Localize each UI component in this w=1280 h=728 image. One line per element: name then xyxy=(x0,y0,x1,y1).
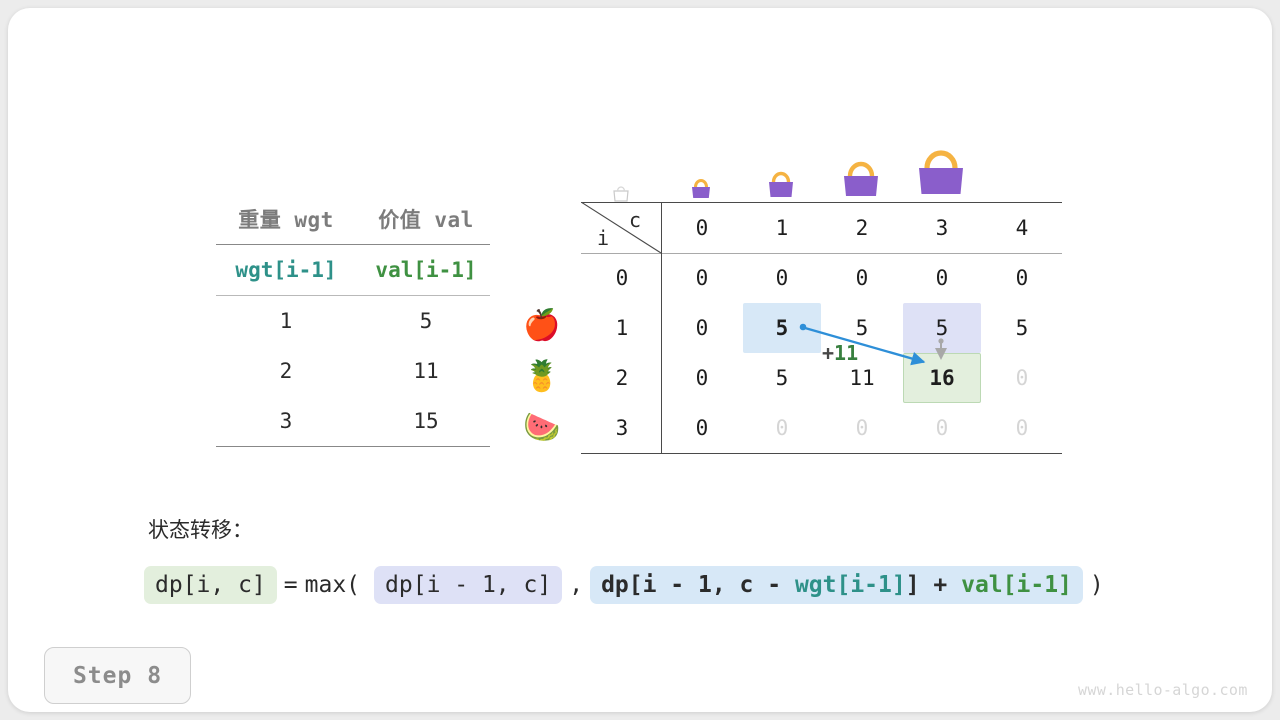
formula-equals: = xyxy=(277,572,305,598)
fruit-icon-column: 🍎 🍍 🍉 xyxy=(514,300,570,453)
item-table-header-wgt: 重量 wgt xyxy=(216,204,356,234)
dp-row-header-0: 0 xyxy=(582,253,662,303)
item-table-body: 1 5 2 11 3 15 xyxy=(216,296,496,446)
formula-arg2: dp[i - 1, c - wgt[i-1]] + val[i-1] xyxy=(590,566,1083,604)
dp-table: c i 0 1 2 3 4 0 1 2 3 0 0 xyxy=(581,202,1062,454)
item-row-1: 1 5 xyxy=(216,296,496,346)
formula-arg2-mid: ] + xyxy=(906,572,961,598)
dp-col-header-2: 2 xyxy=(822,203,902,253)
bag-l-icon xyxy=(821,158,901,202)
item-1-val: 5 xyxy=(356,309,496,333)
main-card: 重量 wgt 价值 val wgt[i-1] val[i-1] 1 5 2 11 xyxy=(8,8,1272,712)
item-table-sub-val: val[i-1] xyxy=(356,258,496,282)
apple-icon: 🍎 xyxy=(514,300,570,351)
dp-cell-0-1: 0 xyxy=(742,253,822,303)
dp-row-header-3: 3 xyxy=(582,403,662,453)
bag-icon-row xyxy=(581,134,1062,202)
item-table-header-val: 价值 val xyxy=(356,204,496,234)
formula-arg2-val: val[i-1] xyxy=(961,572,1072,598)
dp-cell-3-3: 0 xyxy=(902,403,982,453)
dp-cell-1-4: 5 xyxy=(982,303,1062,353)
item-table-rule-bottom xyxy=(216,446,490,447)
dp-cell-2-1: 5 xyxy=(742,353,822,403)
formula-arg2-prefix: dp[i - 1, c - xyxy=(601,572,795,598)
item-row-2: 2 11 xyxy=(216,346,496,396)
dp-row-header-1: 1 xyxy=(582,303,662,353)
item-2-val: 11 xyxy=(356,359,496,383)
step-badge: Step 8 xyxy=(44,647,191,704)
dp-cell-3-2: 0 xyxy=(822,403,902,453)
formula-max-open: max( xyxy=(305,572,360,598)
dp-cell-0-4: 0 xyxy=(982,253,1062,303)
dp-cell-3-0: 0 xyxy=(662,403,742,453)
item-row-3: 3 15 xyxy=(216,396,496,446)
dp-row-header-2: 2 xyxy=(582,353,662,403)
bag-s-icon xyxy=(661,174,741,202)
item-3-val: 15 xyxy=(356,409,496,433)
dp-cell-1-0: 0 xyxy=(662,303,742,353)
watermark: www.hello-algo.com xyxy=(1078,681,1248,699)
bag-m-icon xyxy=(741,168,821,202)
gain-plus-sign: + xyxy=(822,341,834,365)
item-table-header-row: 重量 wgt 价值 val xyxy=(216,194,496,244)
dp-cell-3-4: 0 xyxy=(982,403,1062,453)
item-table-subheader-row: wgt[i-1] val[i-1] xyxy=(216,245,496,295)
dp-cell-1-3: 5 xyxy=(902,303,982,353)
gain-value: 11 xyxy=(834,341,858,365)
item-table: 重量 wgt 价值 val wgt[i-1] val[i-1] 1 5 2 11 xyxy=(216,194,496,447)
page-background: 重量 wgt 价值 val wgt[i-1] val[i-1] 1 5 2 11 xyxy=(0,0,1280,720)
formula-arg1: dp[i - 1, c] xyxy=(374,566,562,604)
dp-col-header-4: 4 xyxy=(982,203,1062,253)
gain-annotation: +11 xyxy=(822,341,858,365)
dp-cell-2-3: 16 xyxy=(902,353,982,403)
dp-cell-0-3: 0 xyxy=(902,253,982,303)
item-table-sub-wgt: wgt[i-1] xyxy=(216,258,356,282)
dp-col-header-1: 1 xyxy=(742,203,822,253)
item-3-wgt: 3 xyxy=(216,409,356,433)
item-2-wgt: 2 xyxy=(216,359,356,383)
dp-cell-2-4: 0 xyxy=(982,353,1062,403)
dp-cell-2-0: 0 xyxy=(662,353,742,403)
state-transition-formula: dp[i, c] = max( dp[i - 1, c] , dp[i - 1,… xyxy=(144,566,1111,604)
dp-cell-3-1: 0 xyxy=(742,403,822,453)
dp-col-header-0: 0 xyxy=(662,203,742,253)
item-1-wgt: 1 xyxy=(216,309,356,333)
dp-col-header-3: 3 xyxy=(902,203,982,253)
formula-close-paren: ) xyxy=(1083,572,1111,598)
dp-cell-0-0: 0 xyxy=(662,253,742,303)
pineapple-icon: 🍍 xyxy=(514,351,570,402)
dp-grid: 0 1 2 3 4 0 1 2 3 0 0 0 0 0 0 5 5 xyxy=(581,202,1062,454)
formula-comma: , xyxy=(562,572,590,598)
bag-xs-outline-icon xyxy=(581,182,661,202)
formula-arg2-wgt: wgt[i-1] xyxy=(795,572,906,598)
dp-cell-0-2: 0 xyxy=(822,253,902,303)
formula-target: dp[i, c] xyxy=(144,566,277,604)
watermelon-icon: 🍉 xyxy=(514,402,570,453)
dp-cell-1-1: 5 xyxy=(742,303,822,353)
bag-xl-icon xyxy=(901,146,981,202)
state-transition-label: 状态转移： xyxy=(148,514,253,544)
